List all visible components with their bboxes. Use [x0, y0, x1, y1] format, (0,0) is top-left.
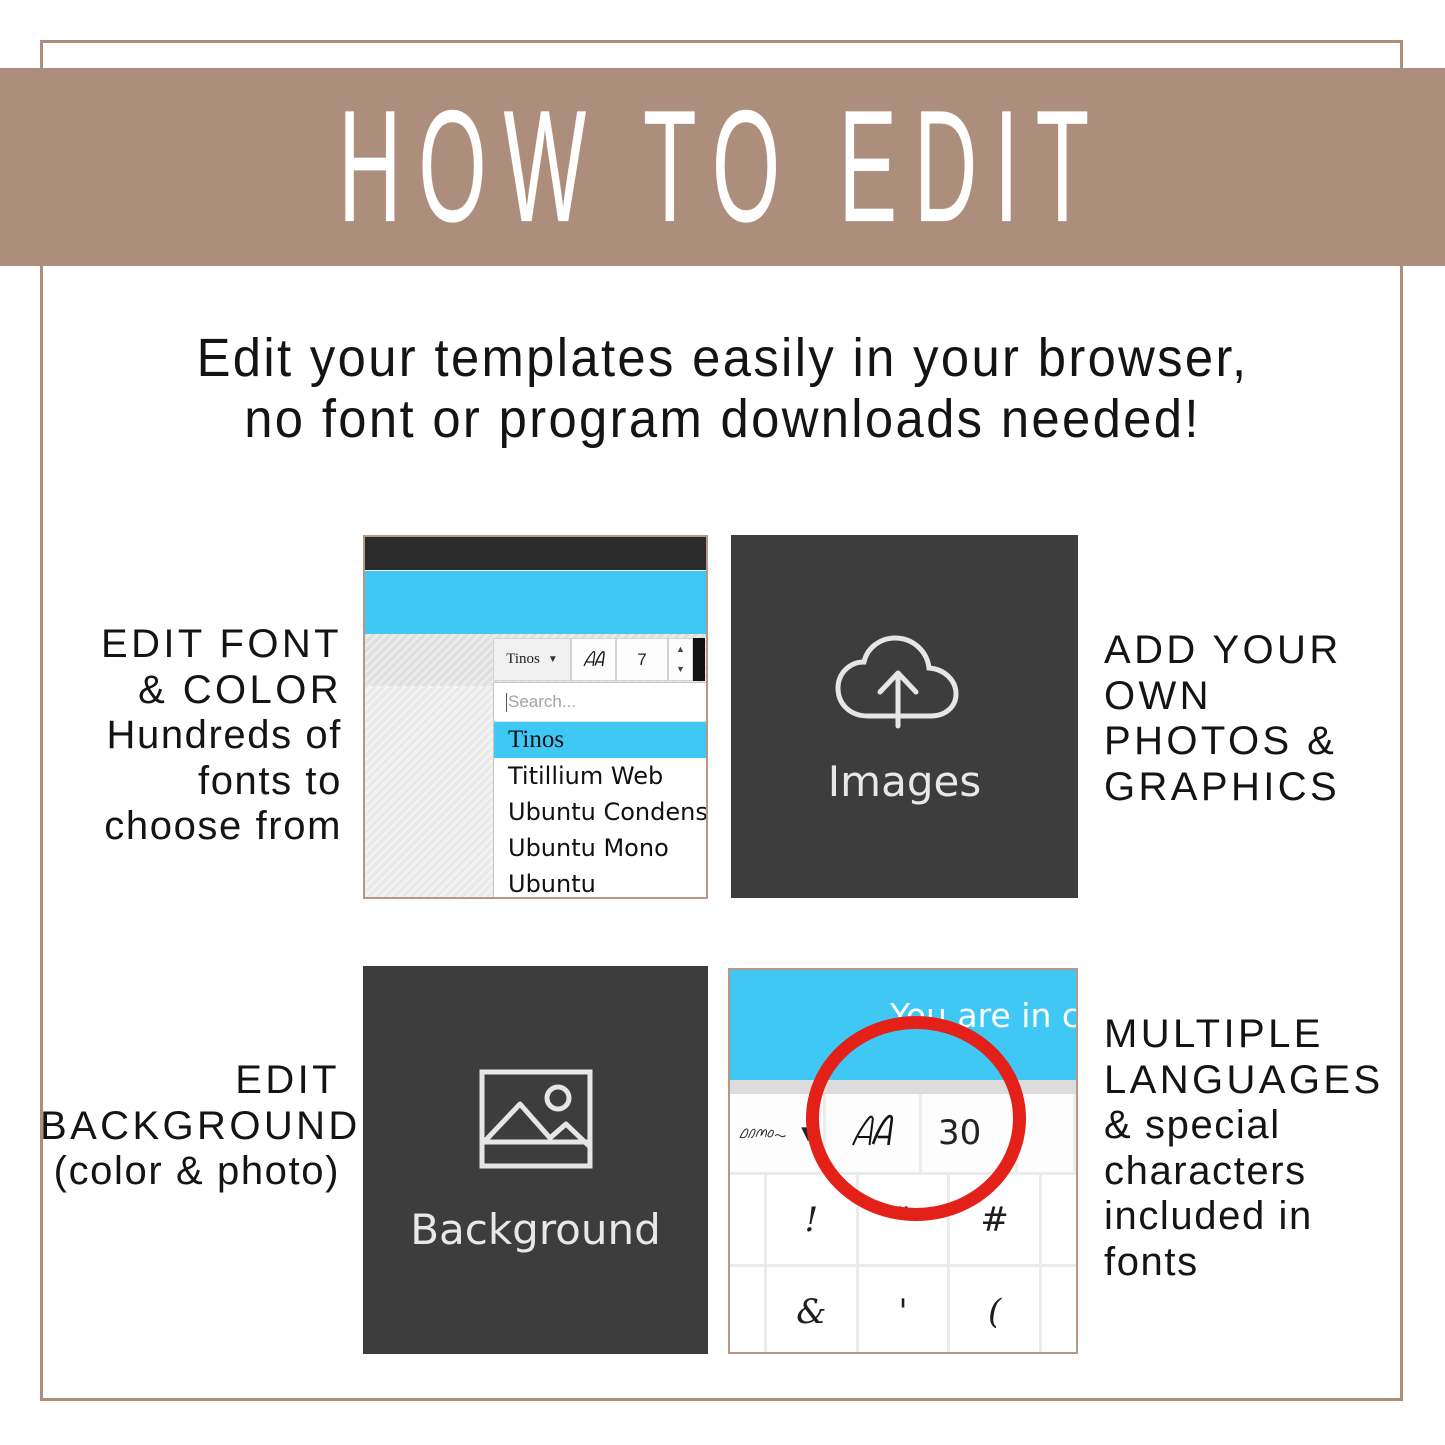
font-option-ubuntu[interactable]: Ubuntu [494, 866, 708, 899]
caption-edit-font-upper: EDIT FONT & COLOR [60, 622, 342, 713]
font-search-input[interactable]: Search... [494, 683, 708, 722]
caption-multiple-languages: MULTIPLE LANGUAGES & special characters … [1104, 1012, 1404, 1286]
cloud-upload-icon [830, 628, 980, 733]
font-option-ubuntu-condensed[interactable]: Ubuntu Condensed [494, 794, 708, 830]
font-search-placeholder: Search... [508, 692, 576, 712]
font-size-stepper[interactable]: ▲ ▼ [668, 638, 693, 681]
font-toolbar: Tinos ▼ 7 ▲ ▼ [493, 638, 705, 681]
font-size-value: 7 [637, 650, 646, 670]
subtitle-line-2: no font or program downloads needed! [43, 389, 1401, 450]
header-banner: HOW TO EDIT [0, 68, 1445, 266]
caption-edit-background: EDIT BACKGROUND (color & photo) [40, 1058, 340, 1195]
text-cursor-icon [506, 693, 507, 712]
stepper-up-icon[interactable]: ▲ [676, 646, 685, 653]
char-cell[interactable] [730, 1267, 764, 1354]
caption-edit-background-lower: (color & photo) [40, 1149, 340, 1195]
font-family-dropdown[interactable]: Tinos ▼ [493, 638, 571, 681]
page-title: HOW TO EDIT [339, 87, 1107, 246]
subtitle: Edit your templates easily in your brows… [43, 328, 1401, 449]
caption-edit-font-lower: Hundreds of fonts to choose from [60, 713, 342, 850]
font-list-dropdown[interactable]: Search... Tinos Titillium Web Ubuntu Con… [493, 682, 708, 899]
images-tile-label: Images [828, 757, 981, 806]
demo-script-text-icon [738, 1122, 791, 1144]
font-size-input[interactable]: 7 [616, 638, 668, 681]
char-cell[interactable] [730, 1175, 764, 1264]
screenshot-background-tile: Background [363, 966, 708, 1354]
picture-icon [476, 1066, 596, 1181]
char-cell[interactable]: ( [950, 1267, 1039, 1354]
background-tile-label: Background [410, 1205, 661, 1254]
screenshot-font-picker: Tinos ▼ 7 ▲ ▼ Search... Tinos Ti [363, 535, 708, 899]
font-option-titillium-web[interactable]: Titillium Web [494, 758, 708, 794]
caption-multiple-languages-lower: & special characters included in fonts [1104, 1103, 1404, 1285]
chevron-down-icon: ▼ [548, 654, 558, 665]
char-cell[interactable]: ' [859, 1267, 948, 1354]
charmap-toolbar-spacer [1018, 1094, 1076, 1172]
editor-cyan-bar [365, 571, 706, 634]
font-family-value: Tinos [506, 651, 540, 668]
stepper-down-icon[interactable]: ▼ [676, 666, 685, 673]
font-option-tinos[interactable]: Tinos [494, 722, 708, 758]
char-cell[interactable] [1042, 1175, 1076, 1264]
font-option-ubuntu-mono[interactable]: Ubuntu Mono [494, 830, 708, 866]
script-font-button[interactable] [571, 638, 616, 681]
search-placeholder-text: Search... [508, 692, 576, 711]
caption-edit-background-upper: EDIT BACKGROUND [40, 1058, 340, 1149]
char-cell[interactable] [1042, 1267, 1076, 1354]
screenshot-character-map: You are in c ▼ 30 [728, 968, 1078, 1354]
subtitle-line-1: Edit your templates easily in your brows… [43, 328, 1401, 389]
script-a-icon [581, 649, 607, 671]
caption-multiple-languages-upper: MULTIPLE LANGUAGES [1104, 1012, 1404, 1103]
caption-add-photos: ADD YOUR OWN PHOTOS & GRAPHICS [1104, 628, 1404, 810]
char-cell[interactable]: & [767, 1267, 856, 1354]
color-swatch[interactable] [693, 638, 705, 681]
caption-edit-font: EDIT FONT & COLOR Hundreds of fonts to c… [60, 622, 342, 850]
screenshot-images-tile: Images [731, 535, 1078, 898]
editor-top-bar [365, 537, 706, 570]
red-highlight-circle [806, 1016, 1026, 1221]
